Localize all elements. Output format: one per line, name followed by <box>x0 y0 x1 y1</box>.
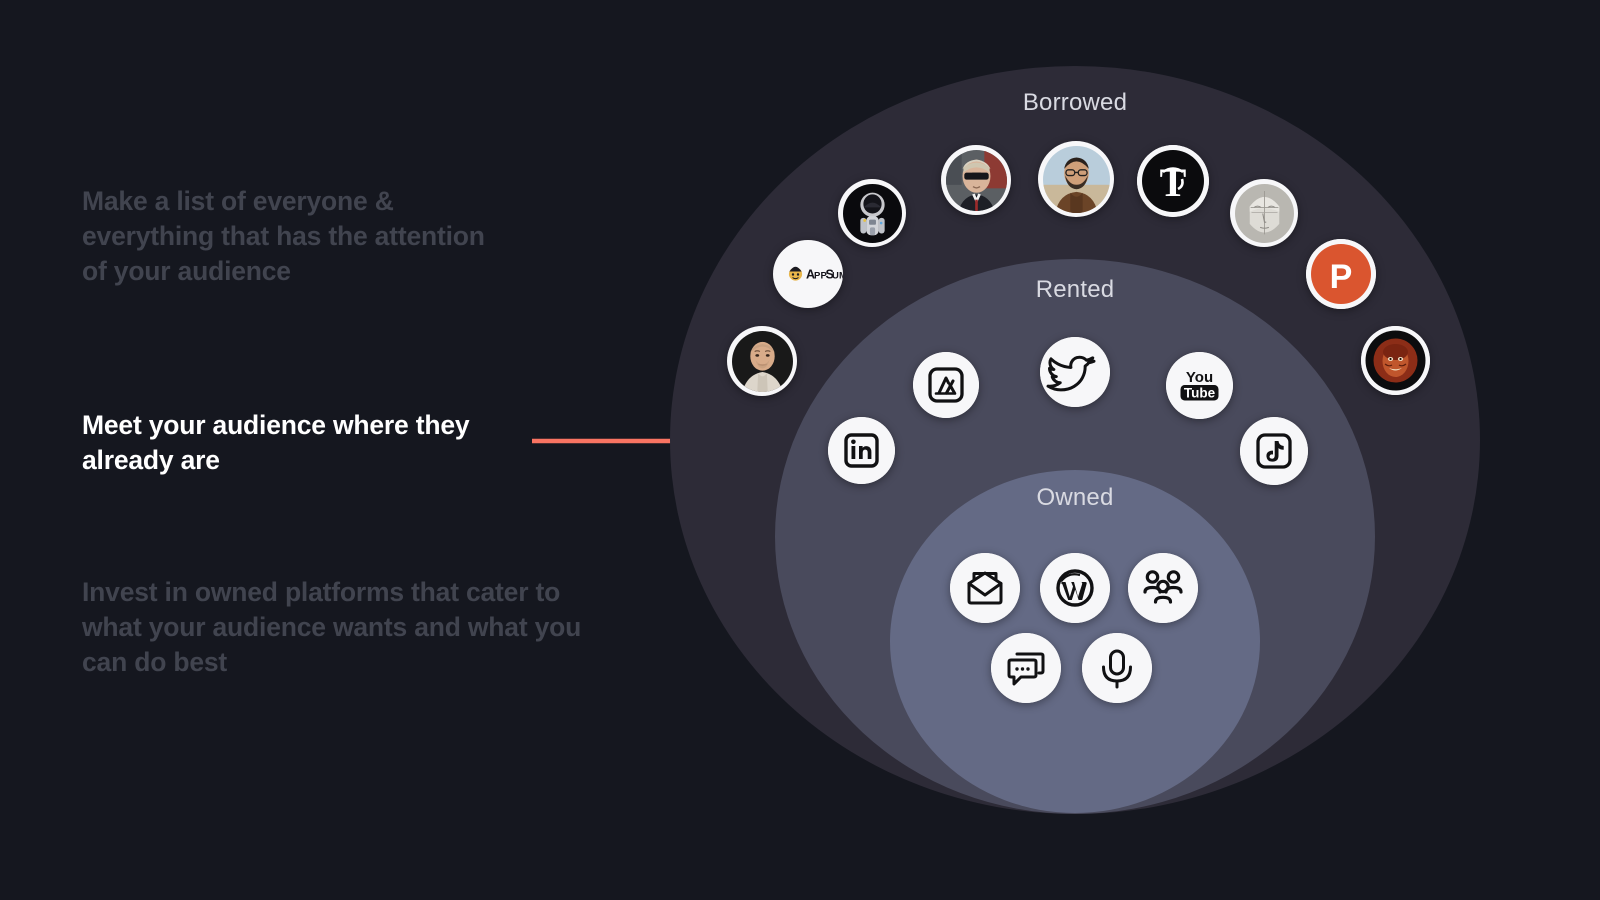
sunglasses-man-avatar-image <box>946 150 1007 211</box>
youtube-top-text: You <box>1186 369 1213 386</box>
chat-icon <box>991 633 1061 703</box>
ring-label-borrowed: Borrowed <box>670 89 1480 117</box>
email-node[interactable] <box>950 553 1020 623</box>
wordpress-node[interactable] <box>1040 553 1110 623</box>
youtube-bottom-text: Tube <box>1184 386 1216 401</box>
tiktok-icon <box>1240 417 1308 485</box>
avatar <box>946 150 1007 211</box>
ring-owned: Owned <box>890 470 1260 813</box>
microphone-icon <box>1082 633 1152 703</box>
svg-text:P: P <box>1330 258 1353 296</box>
astronaut-avatar-node[interactable] <box>838 179 906 247</box>
avatar <box>732 331 793 392</box>
joe-rogan-logo-icon: THE JOE ROGAN EXPERIENCE <box>1361 326 1430 395</box>
avatar <box>1043 146 1110 213</box>
product-hunt-logo-node[interactable]: P <box>1306 239 1376 309</box>
astronaut-avatar-image <box>843 184 902 243</box>
ring-label-owned: Owned <box>890 484 1260 512</box>
linkedin-icon <box>828 417 895 484</box>
linkedin-node[interactable] <box>828 417 895 484</box>
ring-label-rented: Rented <box>775 276 1375 304</box>
svg-text:UMO: UMO <box>832 271 843 282</box>
bald-man-avatar-node[interactable] <box>727 326 797 396</box>
sculpture-head-avatar-node[interactable] <box>1230 179 1298 247</box>
twitter-icon <box>1040 337 1110 407</box>
youtube-icon: You Tube <box>1166 352 1233 419</box>
copy-block-top: Make a list of everyone & everything tha… <box>82 184 502 289</box>
youtube-node[interactable]: You Tube <box>1166 352 1233 419</box>
twitter-node[interactable] <box>1040 337 1110 407</box>
joe-rogan-logo-node[interactable]: THE JOE ROGAN EXPERIENCE <box>1361 326 1430 395</box>
avatar <box>1235 184 1294 243</box>
sunglasses-man-avatar-node[interactable] <box>941 145 1011 215</box>
chat-node[interactable] <box>991 633 1061 703</box>
app-store-icon <box>913 352 979 418</box>
nyt-logo-node[interactable]: T <box>1137 145 1209 217</box>
product-hunt-logo-icon: P <box>1306 239 1376 309</box>
bearded-man-avatar-node[interactable] <box>1038 141 1114 217</box>
appsumo-logo-icon: A PP S UMO <box>773 240 843 308</box>
copy-block-bottom: Invest in owned platforms that cater to … <box>82 575 592 680</box>
appsumo-logo-node[interactable]: A PP S UMO <box>773 240 843 308</box>
copy-block-middle: Meet your audience where they already ar… <box>82 408 552 478</box>
community-icon <box>1128 553 1198 623</box>
email-icon <box>950 553 1020 623</box>
bearded-man-avatar-image <box>1043 146 1110 213</box>
sculpture-head-avatar-image <box>1235 184 1294 243</box>
avatar <box>843 184 902 243</box>
community-node[interactable] <box>1128 553 1198 623</box>
app-store-node[interactable] <box>913 352 979 418</box>
bald-man-avatar-image <box>732 331 793 392</box>
wordpress-icon <box>1040 553 1110 623</box>
microphone-node[interactable] <box>1082 633 1152 703</box>
tiktok-node[interactable] <box>1240 417 1308 485</box>
diagram-canvas: Make a list of everyone & everything tha… <box>0 0 1600 900</box>
nyt-logo-icon: T <box>1137 145 1209 217</box>
